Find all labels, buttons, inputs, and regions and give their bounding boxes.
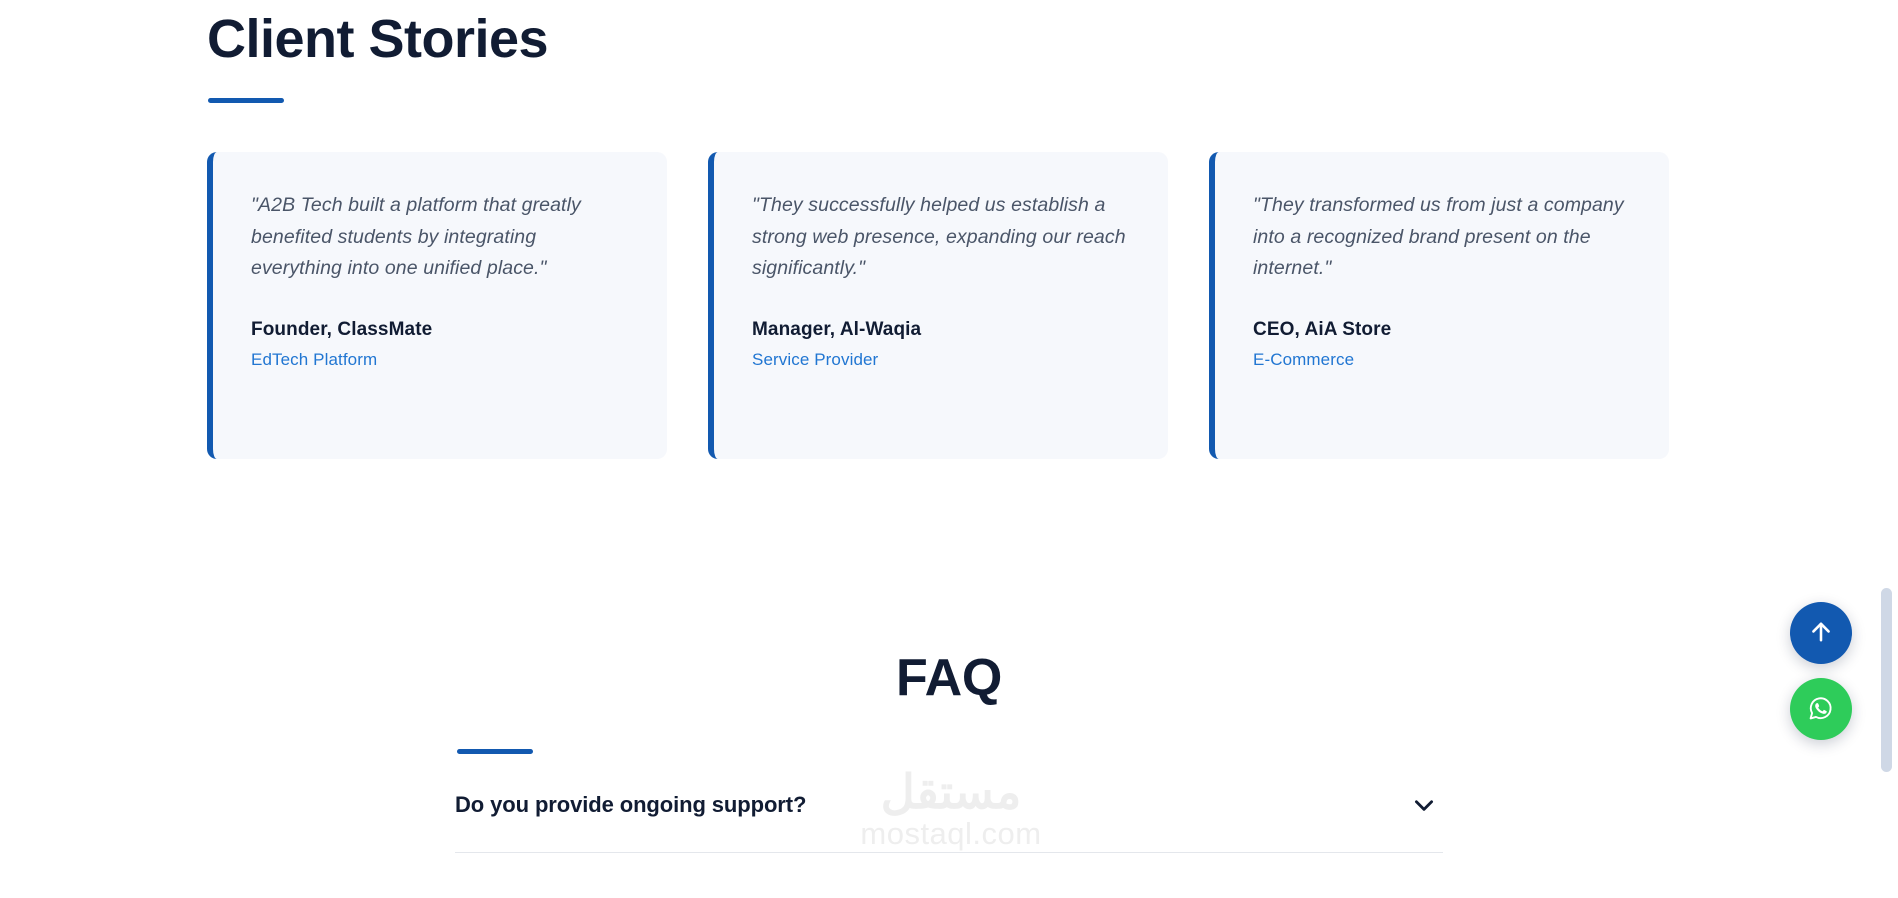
whatsapp-icon	[1805, 692, 1837, 727]
testimonial-author: Founder, ClassMate	[251, 319, 631, 341]
testimonial-cards-row: "A2B Tech built a platform that greatly …	[207, 152, 1670, 459]
faq-section: FAQ	[0, 648, 1898, 708]
testimonial-card: "They successfully helped us establish a…	[708, 152, 1168, 459]
whatsapp-button[interactable]	[1790, 678, 1852, 740]
page-scrollbar-thumb[interactable]	[1881, 588, 1892, 772]
faq-question-label: Do you provide ongoing support?	[455, 792, 806, 818]
testimonial-quote: "They transformed us from just a company…	[1253, 190, 1633, 285]
faq-underline-accent	[457, 749, 533, 754]
chevron-down-icon[interactable]	[1411, 792, 1437, 818]
faq-title: FAQ	[0, 648, 1898, 708]
arrow-up-icon	[1807, 618, 1835, 649]
testimonial-quote: "They successfully helped us establish a…	[752, 190, 1132, 285]
testimonial-author: Manager, Al-Waqia	[752, 319, 1132, 341]
faq-accordion-item[interactable]: Do you provide ongoing support?	[455, 792, 1443, 853]
page-title: Client Stories	[207, 8, 548, 70]
title-underline-accent	[208, 98, 284, 103]
page-scrollbar-track[interactable]	[1883, 0, 1895, 898]
testimonial-card: "They transformed us from just a company…	[1209, 152, 1669, 459]
floating-action-buttons	[1790, 602, 1852, 740]
testimonial-author: CEO, AiA Store	[1253, 319, 1633, 341]
testimonial-role: EdTech Platform	[251, 350, 631, 370]
faq-accordion-list: Do you provide ongoing support?	[455, 792, 1443, 853]
testimonial-role: Service Provider	[752, 350, 1132, 370]
page-root: Client Stories "A2B Tech built a platfor…	[0, 0, 1898, 898]
testimonial-role: E-Commerce	[1253, 350, 1633, 370]
testimonial-card: "A2B Tech built a platform that greatly …	[207, 152, 667, 459]
scroll-to-top-button[interactable]	[1790, 602, 1852, 664]
testimonial-quote: "A2B Tech built a platform that greatly …	[251, 190, 631, 285]
